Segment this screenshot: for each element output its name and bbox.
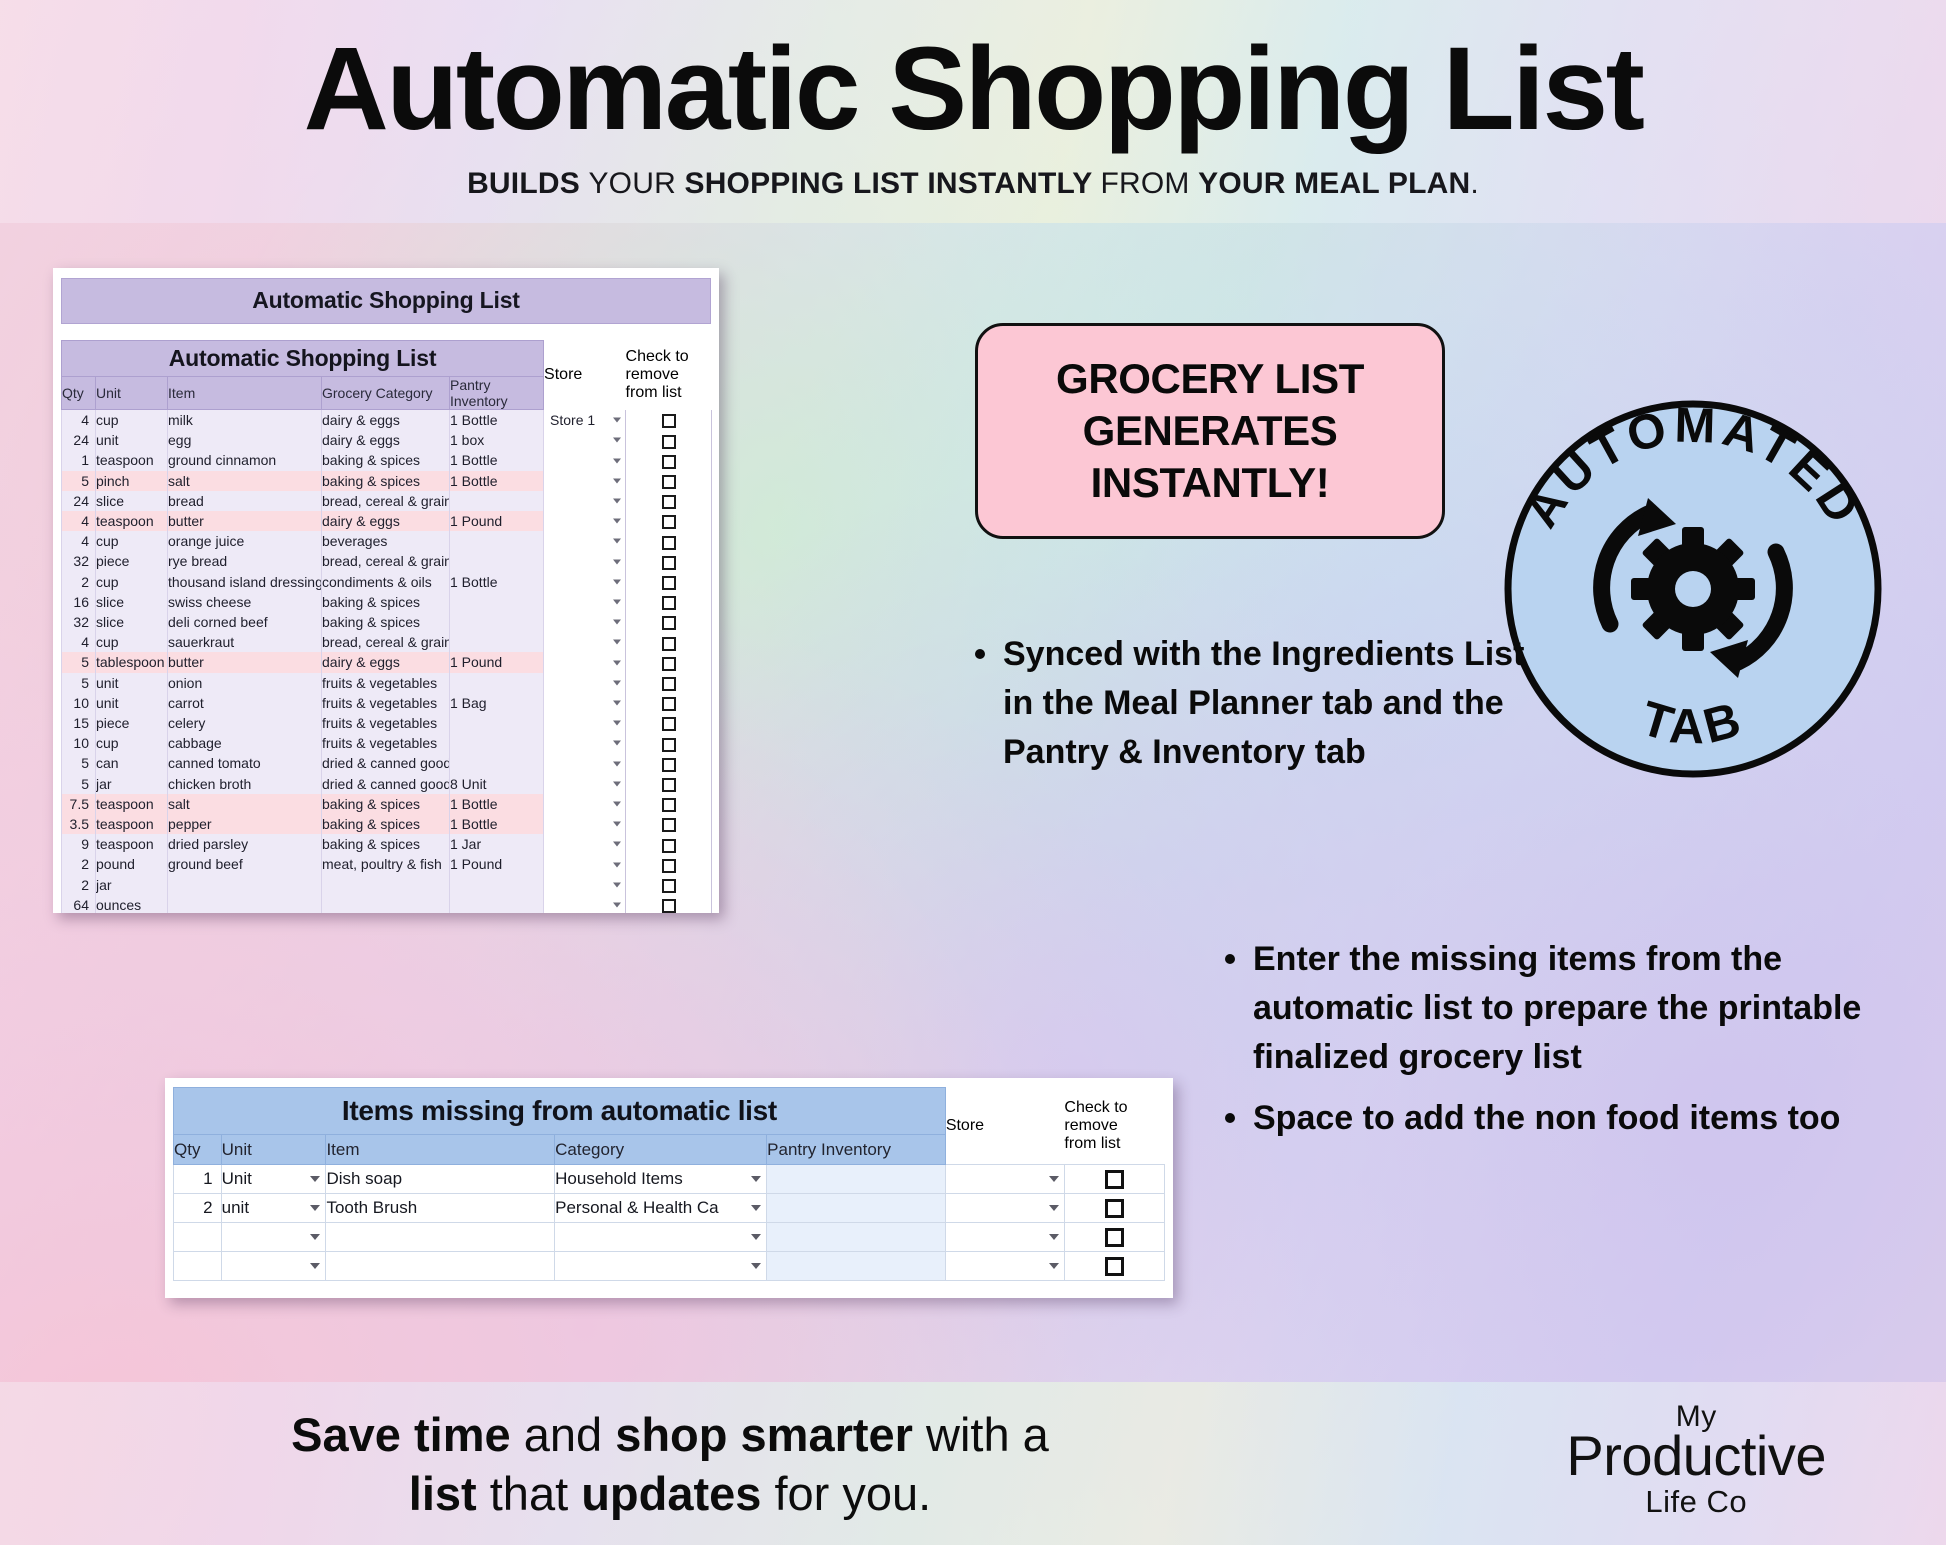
cell-checkbox[interactable] [626, 693, 712, 713]
remove-checkbox[interactable] [662, 758, 676, 772]
cell-qty[interactable]: 64 [62, 895, 96, 913]
table-row[interactable]: 10cupcabbagefruits & vegetables [62, 733, 712, 753]
cell-category[interactable] [555, 1223, 767, 1252]
cell-qty[interactable]: 1 [62, 450, 96, 470]
cell-qty[interactable]: 15 [62, 713, 96, 733]
automatic-shopping-list-spreadsheet[interactable]: Automatic Shopping List Automatic Shoppi… [53, 268, 719, 913]
cell-item[interactable]: Tooth Brush [326, 1194, 555, 1223]
cell-store[interactable] [544, 531, 626, 551]
cell-category[interactable]: fruits & vegetables [322, 693, 450, 713]
cell-qty[interactable]: 4 [62, 531, 96, 551]
table-row[interactable]: 2cupthousand island dressingcondiments &… [62, 572, 712, 592]
cell-item[interactable]: orange juice [168, 531, 322, 551]
cell-checkbox[interactable] [1064, 1252, 1164, 1281]
cell-checkbox[interactable] [626, 471, 712, 491]
cell-checkbox[interactable] [626, 551, 712, 571]
cell-unit[interactable]: unit [96, 693, 168, 713]
cell-qty[interactable]: 2 [62, 572, 96, 592]
cell-store[interactable] [544, 713, 626, 733]
table-row[interactable]: 4cupsauerkrautbread, cereal & grains [62, 632, 712, 652]
cell-category[interactable]: baking & spices [322, 834, 450, 854]
chevron-down-icon[interactable] [613, 438, 621, 443]
chevron-down-icon[interactable] [613, 478, 621, 483]
cell-pantry[interactable] [450, 673, 544, 693]
cell-store[interactable] [544, 854, 626, 874]
cell-category[interactable]: dairy & eggs [322, 410, 450, 431]
cell-unit[interactable]: piece [96, 713, 168, 733]
cell-store[interactable] [945, 1252, 1064, 1281]
cell-category[interactable]: beverages [322, 531, 450, 551]
cell-item[interactable]: Dish soap [326, 1165, 555, 1194]
cell-item[interactable]: pepper [168, 814, 322, 834]
chevron-down-icon[interactable] [613, 761, 621, 766]
cell-pantry[interactable] [450, 531, 544, 551]
chevron-down-icon[interactable] [751, 1176, 761, 1182]
cell-category[interactable]: Household Items [555, 1165, 767, 1194]
remove-checkbox[interactable] [1105, 1199, 1124, 1218]
chevron-down-icon[interactable] [613, 862, 621, 867]
table-row[interactable]: 5unitonionfruits & vegetables [62, 673, 712, 693]
cell-category[interactable]: dried & canned goods [322, 753, 450, 773]
cell-unit[interactable]: cup [96, 733, 168, 753]
cell-item[interactable]: deli corned beef [168, 612, 322, 632]
table-row[interactable]: 24slicebreadbread, cereal & grains [62, 491, 712, 511]
cell-category[interactable]: dairy & eggs [322, 430, 450, 450]
cell-pantry[interactable] [450, 895, 544, 913]
remove-checkbox[interactable] [662, 616, 676, 630]
chevron-down-icon[interactable] [613, 539, 621, 544]
cell-pantry[interactable]: 1 Pound [450, 511, 544, 531]
cell-store[interactable] [945, 1223, 1064, 1252]
cell-store[interactable] [544, 875, 626, 895]
chevron-down-icon[interactable] [1049, 1263, 1059, 1269]
cell-item[interactable]: bread [168, 491, 322, 511]
cell-pantry[interactable]: 1 Bottle [450, 814, 544, 834]
cell-pantry[interactable] [450, 753, 544, 773]
chevron-down-icon[interactable] [613, 559, 621, 564]
cell-qty[interactable]: 24 [62, 491, 96, 511]
cell-pantry[interactable] [450, 733, 544, 753]
cell-store[interactable] [544, 491, 626, 511]
cell-category[interactable]: meat, poultry & fish [322, 854, 450, 874]
chevron-down-icon[interactable] [613, 822, 621, 827]
remove-checkbox[interactable] [662, 818, 676, 832]
cell-checkbox[interactable] [626, 612, 712, 632]
cell-checkbox[interactable] [626, 733, 712, 753]
cell-unit[interactable]: teaspoon [96, 834, 168, 854]
table-row[interactable]: 2unitTooth BrushPersonal & Health Ca [174, 1194, 1165, 1223]
chevron-down-icon[interactable] [310, 1176, 320, 1182]
cell-pantry[interactable] [767, 1223, 946, 1252]
cell-unit[interactable]: pinch [96, 471, 168, 491]
table-row[interactable]: 32piecerye breadbread, cereal & grains [62, 551, 712, 571]
cell-pantry[interactable]: 1 Bottle [450, 471, 544, 491]
remove-checkbox[interactable] [662, 677, 676, 691]
cell-pantry[interactable] [450, 612, 544, 632]
cell-qty[interactable]: 32 [62, 551, 96, 571]
cell-pantry[interactable] [767, 1165, 946, 1194]
cell-category[interactable]: baking & spices [322, 592, 450, 612]
cell-store[interactable] [544, 753, 626, 773]
cell-store[interactable] [544, 693, 626, 713]
cell-unit[interactable]: teaspoon [96, 794, 168, 814]
cell-item[interactable]: celery [168, 713, 322, 733]
table-row[interactable]: 64ounces [62, 895, 712, 913]
cell-pantry[interactable] [450, 632, 544, 652]
table-row[interactable]: 3.5teaspoonpepperbaking & spices1 Bottle [62, 814, 712, 834]
cell-qty[interactable] [174, 1223, 222, 1252]
cell-item[interactable]: dried parsley [168, 834, 322, 854]
cell-checkbox[interactable] [626, 854, 712, 874]
table-row[interactable]: 4teaspoonbutterdairy & eggs1 Pound [62, 511, 712, 531]
chevron-down-icon[interactable] [613, 781, 621, 786]
cell-category[interactable]: dairy & eggs [322, 652, 450, 672]
cell-qty[interactable]: 2 [62, 854, 96, 874]
cell-item[interactable]: rye bread [168, 551, 322, 571]
remove-checkbox[interactable] [662, 798, 676, 812]
cell-unit[interactable]: cup [96, 572, 168, 592]
cell-unit[interactable] [221, 1252, 326, 1281]
cell-unit[interactable]: tablespoon [96, 652, 168, 672]
remove-checkbox[interactable] [662, 879, 676, 893]
cell-store[interactable]: Store 1 [544, 410, 626, 431]
cell-store[interactable] [544, 592, 626, 612]
table-row[interactable]: 16sliceswiss cheesebaking & spices [62, 592, 712, 612]
cell-checkbox[interactable] [626, 753, 712, 773]
remove-checkbox[interactable] [1105, 1257, 1124, 1276]
cell-category[interactable]: fruits & vegetables [322, 673, 450, 693]
cell-item[interactable]: cabbage [168, 733, 322, 753]
cell-checkbox[interactable] [1064, 1194, 1164, 1223]
table-row[interactable]: 2jar [62, 875, 712, 895]
cell-store[interactable] [945, 1194, 1064, 1223]
chevron-down-icon[interactable] [613, 579, 621, 584]
chevron-down-icon[interactable] [613, 902, 621, 907]
chevron-down-icon[interactable] [751, 1263, 761, 1269]
table-row[interactable]: 4cuporange juicebeverages [62, 531, 712, 551]
cell-pantry[interactable]: 1 Bottle [450, 794, 544, 814]
cell-store[interactable] [544, 794, 626, 814]
cell-item[interactable] [168, 875, 322, 895]
cell-unit[interactable]: cup [96, 531, 168, 551]
cell-store[interactable] [945, 1165, 1064, 1194]
cell-pantry[interactable]: 1 Jar [450, 834, 544, 854]
cell-category[interactable]: fruits & vegetables [322, 713, 450, 733]
cell-unit[interactable]: pound [96, 854, 168, 874]
table-row[interactable]: 5jarchicken brothdried & canned goods8 U… [62, 774, 712, 794]
cell-store[interactable] [544, 450, 626, 470]
table-row[interactable]: 24uniteggdairy & eggs1 box [62, 430, 712, 450]
chevron-down-icon[interactable] [613, 660, 621, 665]
cell-unit[interactable]: unit [96, 673, 168, 693]
cell-qty[interactable]: 4 [62, 511, 96, 531]
cell-qty[interactable]: 9 [62, 834, 96, 854]
cell-checkbox[interactable] [626, 895, 712, 913]
chevron-down-icon[interactable] [613, 620, 621, 625]
cell-store[interactable] [544, 430, 626, 450]
cell-item[interactable]: swiss cheese [168, 592, 322, 612]
remove-checkbox[interactable] [662, 475, 676, 489]
cell-unit[interactable]: teaspoon [96, 814, 168, 834]
cell-qty[interactable] [174, 1252, 222, 1281]
cell-pantry[interactable]: 1 Bag [450, 693, 544, 713]
cell-store[interactable] [544, 511, 626, 531]
chevron-down-icon[interactable] [613, 842, 621, 847]
cell-store[interactable] [544, 774, 626, 794]
cell-pantry[interactable] [450, 491, 544, 511]
cell-qty[interactable]: 3.5 [62, 814, 96, 834]
remove-checkbox[interactable] [662, 657, 676, 671]
remove-checkbox[interactable] [662, 778, 676, 792]
cell-category[interactable]: bread, cereal & grains [322, 551, 450, 571]
cell-item[interactable]: ground beef [168, 854, 322, 874]
cell-qty[interactable]: 4 [62, 632, 96, 652]
remove-checkbox[interactable] [662, 738, 676, 752]
cell-checkbox[interactable] [626, 774, 712, 794]
cell-checkbox[interactable] [626, 531, 712, 551]
cell-category[interactable]: fruits & vegetables [322, 733, 450, 753]
cell-item[interactable]: thousand island dressing [168, 572, 322, 592]
cell-category[interactable]: bread, cereal & grains [322, 632, 450, 652]
cell-category[interactable]: baking & spices [322, 450, 450, 470]
remove-checkbox[interactable] [662, 899, 676, 913]
cell-pantry[interactable]: 1 Bottle [450, 410, 544, 431]
chevron-down-icon[interactable] [613, 417, 621, 422]
table-row[interactable]: 4cupmilkdairy & eggs1 BottleStore 1 [62, 410, 712, 431]
remove-checkbox[interactable] [662, 596, 676, 610]
cell-unit[interactable]: jar [96, 774, 168, 794]
cell-item[interactable]: milk [168, 410, 322, 431]
cell-store[interactable] [544, 814, 626, 834]
cell-qty[interactable]: 10 [62, 733, 96, 753]
remove-checkbox[interactable] [662, 637, 676, 651]
cell-checkbox[interactable] [626, 652, 712, 672]
cell-qty[interactable]: 32 [62, 612, 96, 632]
table-row[interactable]: 15piececeleryfruits & vegetables [62, 713, 712, 733]
chevron-down-icon[interactable] [1049, 1205, 1059, 1211]
chevron-down-icon[interactable] [310, 1263, 320, 1269]
remove-checkbox[interactable] [1105, 1170, 1124, 1189]
cell-store[interactable] [544, 895, 626, 913]
cell-store[interactable] [544, 652, 626, 672]
table-row[interactable]: 5tablespoonbutterdairy & eggs1 Pound [62, 652, 712, 672]
cell-store[interactable] [544, 471, 626, 491]
cell-item[interactable]: canned tomato [168, 753, 322, 773]
cell-category[interactable]: Personal & Health Ca [555, 1194, 767, 1223]
cell-checkbox[interactable] [626, 713, 712, 733]
cell-checkbox[interactable] [626, 632, 712, 652]
chevron-down-icon[interactable] [613, 519, 621, 524]
cell-item[interactable]: ground cinnamon [168, 450, 322, 470]
cell-store[interactable] [544, 632, 626, 652]
cell-store[interactable] [544, 572, 626, 592]
table-row[interactable]: 5cancanned tomatodried & canned goods [62, 753, 712, 773]
cell-item[interactable]: chicken broth [168, 774, 322, 794]
cell-category[interactable] [322, 895, 450, 913]
cell-pantry[interactable] [767, 1252, 946, 1281]
table-row[interactable] [174, 1252, 1165, 1281]
cell-checkbox[interactable] [626, 491, 712, 511]
remove-checkbox[interactable] [662, 495, 676, 509]
cell-checkbox[interactable] [626, 572, 712, 592]
cell-pantry[interactable]: 1 Pound [450, 854, 544, 874]
cell-category[interactable] [322, 875, 450, 895]
cell-unit[interactable] [221, 1223, 326, 1252]
cell-qty[interactable]: 7.5 [62, 794, 96, 814]
cell-pantry[interactable]: 1 Bottle [450, 450, 544, 470]
cell-checkbox[interactable] [626, 834, 712, 854]
cell-unit[interactable]: slice [96, 612, 168, 632]
cell-checkbox[interactable] [626, 794, 712, 814]
cell-category[interactable]: dairy & eggs [322, 511, 450, 531]
cell-pantry[interactable] [767, 1194, 946, 1223]
chevron-down-icon[interactable] [1049, 1234, 1059, 1240]
cell-category[interactable] [555, 1252, 767, 1281]
cell-category[interactable]: baking & spices [322, 471, 450, 491]
chevron-down-icon[interactable] [613, 741, 621, 746]
cell-pantry[interactable] [450, 713, 544, 733]
cell-checkbox[interactable] [626, 875, 712, 895]
cell-qty[interactable]: 5 [62, 753, 96, 773]
cell-qty[interactable]: 1 [174, 1165, 222, 1194]
remove-checkbox[interactable] [662, 839, 676, 853]
remove-checkbox[interactable] [662, 576, 676, 590]
items-missing-spreadsheet[interactable]: Items missing from automatic list Store … [165, 1078, 1173, 1298]
cell-unit[interactable]: slice [96, 592, 168, 612]
chevron-down-icon[interactable] [310, 1234, 320, 1240]
cell-category[interactable]: condiments & oils [322, 572, 450, 592]
cell-item[interactable]: sauerkraut [168, 632, 322, 652]
cell-checkbox[interactable] [626, 430, 712, 450]
remove-checkbox[interactable] [1105, 1228, 1124, 1247]
cell-item[interactable]: salt [168, 471, 322, 491]
cell-unit[interactable]: Unit [221, 1165, 326, 1194]
cell-category[interactable]: bread, cereal & grains [322, 491, 450, 511]
remove-checkbox[interactable] [662, 455, 676, 469]
cell-item[interactable]: egg [168, 430, 322, 450]
chevron-down-icon[interactable] [613, 700, 621, 705]
cell-unit[interactable]: slice [96, 491, 168, 511]
remove-checkbox[interactable] [662, 536, 676, 550]
cell-unit[interactable]: cup [96, 410, 168, 431]
cell-qty[interactable]: 10 [62, 693, 96, 713]
cell-pantry[interactable] [450, 875, 544, 895]
cell-category[interactable]: dried & canned goods [322, 774, 450, 794]
chevron-down-icon[interactable] [310, 1205, 320, 1211]
cell-item[interactable]: salt [168, 794, 322, 814]
cell-pantry[interactable] [450, 551, 544, 571]
cell-pantry[interactable]: 1 Bottle [450, 572, 544, 592]
cell-store[interactable] [544, 733, 626, 753]
chevron-down-icon[interactable] [613, 498, 621, 503]
cell-pantry[interactable]: 1 Pound [450, 652, 544, 672]
cell-qty[interactable]: 5 [62, 673, 96, 693]
cell-qty[interactable]: 2 [174, 1194, 222, 1223]
cell-store[interactable] [544, 612, 626, 632]
cell-unit[interactable]: teaspoon [96, 511, 168, 531]
cell-item[interactable]: butter [168, 652, 322, 672]
cell-unit[interactable]: ounces [96, 895, 168, 913]
remove-checkbox[interactable] [662, 414, 676, 428]
cell-qty[interactable]: 24 [62, 430, 96, 450]
cell-store[interactable] [544, 551, 626, 571]
chevron-down-icon[interactable] [613, 680, 621, 685]
cell-qty[interactable]: 5 [62, 471, 96, 491]
cell-checkbox[interactable] [626, 673, 712, 693]
cell-checkbox[interactable] [1064, 1223, 1164, 1252]
cell-category[interactable]: baking & spices [322, 612, 450, 632]
cell-unit[interactable]: piece [96, 551, 168, 571]
remove-checkbox[interactable] [662, 697, 676, 711]
sheet2-table[interactable]: Items missing from automatic list Store … [173, 1087, 1165, 1281]
table-row[interactable]: 32slicedeli corned beefbaking & spices [62, 612, 712, 632]
table-row[interactable]: 2poundground beefmeat, poultry & fish1 P… [62, 854, 712, 874]
cell-unit[interactable]: unit [96, 430, 168, 450]
cell-checkbox[interactable] [626, 410, 712, 431]
cell-qty[interactable]: 5 [62, 652, 96, 672]
chevron-down-icon[interactable] [1049, 1176, 1059, 1182]
table-row[interactable] [174, 1223, 1165, 1252]
cell-item[interactable]: onion [168, 673, 322, 693]
remove-checkbox[interactable] [662, 859, 676, 873]
cell-item[interactable] [168, 895, 322, 913]
cell-unit[interactable]: cup [96, 632, 168, 652]
chevron-down-icon[interactable] [751, 1205, 761, 1211]
cell-category[interactable]: baking & spices [322, 814, 450, 834]
cell-checkbox[interactable] [626, 814, 712, 834]
cell-store[interactable] [544, 673, 626, 693]
cell-item[interactable]: butter [168, 511, 322, 531]
cell-unit[interactable]: can [96, 753, 168, 773]
chevron-down-icon[interactable] [751, 1234, 761, 1240]
cell-item[interactable] [326, 1223, 555, 1252]
cell-unit[interactable]: jar [96, 875, 168, 895]
cell-checkbox[interactable] [1064, 1165, 1164, 1194]
remove-checkbox[interactable] [662, 515, 676, 529]
chevron-down-icon[interactable] [613, 458, 621, 463]
sheet1-table[interactable]: Automatic Shopping List Store Check to r… [61, 340, 712, 913]
cell-pantry[interactable]: 8 Unit [450, 774, 544, 794]
cell-unit[interactable]: teaspoon [96, 450, 168, 470]
remove-checkbox[interactable] [662, 435, 676, 449]
cell-checkbox[interactable] [626, 450, 712, 470]
remove-checkbox[interactable] [662, 556, 676, 570]
cell-checkbox[interactable] [626, 511, 712, 531]
chevron-down-icon[interactable] [613, 882, 621, 887]
cell-qty[interactable]: 4 [62, 410, 96, 431]
chevron-down-icon[interactable] [613, 640, 621, 645]
table-row[interactable]: 7.5teaspoonsaltbaking & spices1 Bottle [62, 794, 712, 814]
remove-checkbox[interactable] [662, 717, 676, 731]
cell-pantry[interactable] [450, 592, 544, 612]
cell-qty[interactable]: 5 [62, 774, 96, 794]
cell-qty[interactable]: 16 [62, 592, 96, 612]
cell-checkbox[interactable] [626, 592, 712, 612]
cell-category[interactable]: baking & spices [322, 794, 450, 814]
cell-pantry[interactable]: 1 box [450, 430, 544, 450]
chevron-down-icon[interactable] [613, 721, 621, 726]
table-row[interactable]: 9teaspoondried parsleybaking & spices1 J… [62, 834, 712, 854]
chevron-down-icon[interactable] [613, 801, 621, 806]
cell-item[interactable] [326, 1252, 555, 1281]
chevron-down-icon[interactable] [613, 599, 621, 604]
table-row[interactable]: 1teaspoonground cinnamonbaking & spices1… [62, 450, 712, 470]
cell-unit[interactable]: unit [221, 1194, 326, 1223]
cell-store[interactable] [544, 834, 626, 854]
cell-item[interactable]: carrot [168, 693, 322, 713]
cell-qty[interactable]: 2 [62, 875, 96, 895]
table-row[interactable]: 5pinchsaltbaking & spices1 Bottle [62, 471, 712, 491]
